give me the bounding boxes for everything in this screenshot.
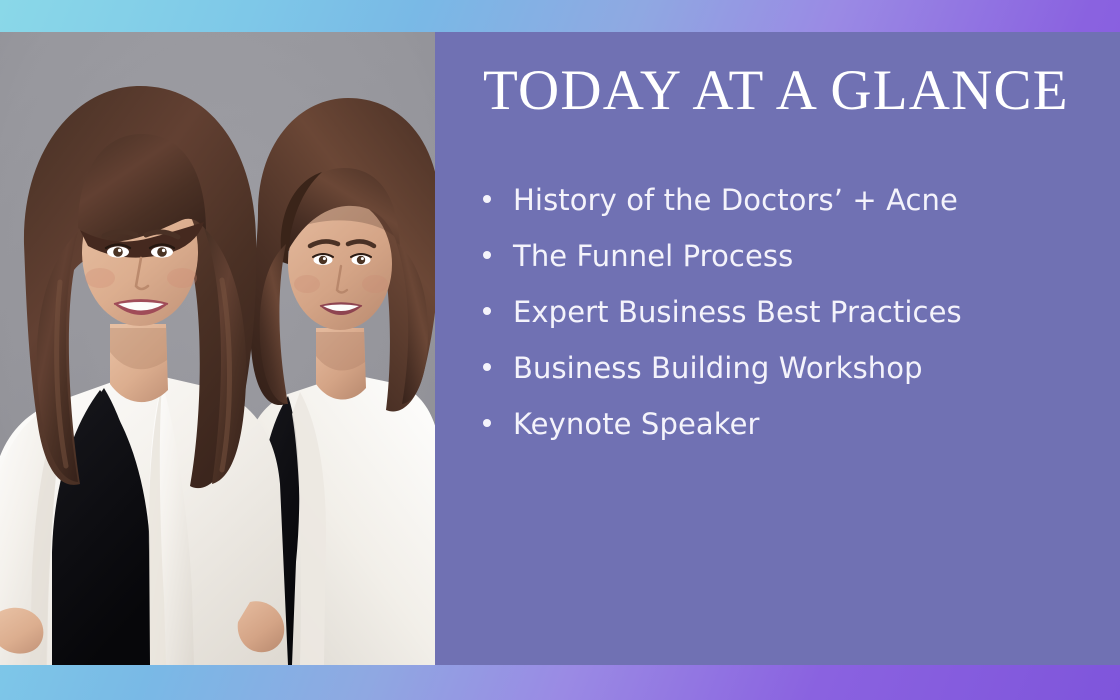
agenda-panel: TODAY AT A GLANCE History of the Doctors… (435, 32, 1120, 665)
bullet-dot-icon (483, 399, 513, 455)
slide-content: TODAY AT A GLANCE History of the Doctors… (0, 32, 1120, 665)
list-item: Expert Business Best Practices (483, 284, 1103, 340)
bullet-dot-icon (483, 287, 513, 343)
speakers-photo (0, 32, 435, 665)
list-item-label: Keynote Speaker (513, 396, 760, 452)
list-item-label: Expert Business Best Practices (513, 284, 962, 340)
list-item: History of the Doctors’ + Acne (483, 172, 1103, 228)
list-item: The Funnel Process (483, 228, 1103, 284)
list-item-label: The Funnel Process (513, 228, 793, 284)
bullet-dot-icon (483, 343, 513, 399)
list-item-label: History of the Doctors’ + Acne (513, 172, 958, 228)
slide: TODAY AT A GLANCE History of the Doctors… (0, 0, 1120, 700)
page-title: TODAY AT A GLANCE (483, 60, 1069, 122)
agenda-list: History of the Doctors’ + Acne The Funne… (483, 172, 1103, 452)
speaker-left (0, 86, 288, 665)
bullet-dot-icon (483, 175, 513, 231)
list-item-label: Business Building Workshop (513, 340, 923, 396)
list-item: Keynote Speaker (483, 396, 1103, 452)
list-item: Business Building Workshop (483, 340, 1103, 396)
speakers-photo-illustration (0, 32, 435, 665)
bullet-dot-icon (483, 231, 513, 287)
